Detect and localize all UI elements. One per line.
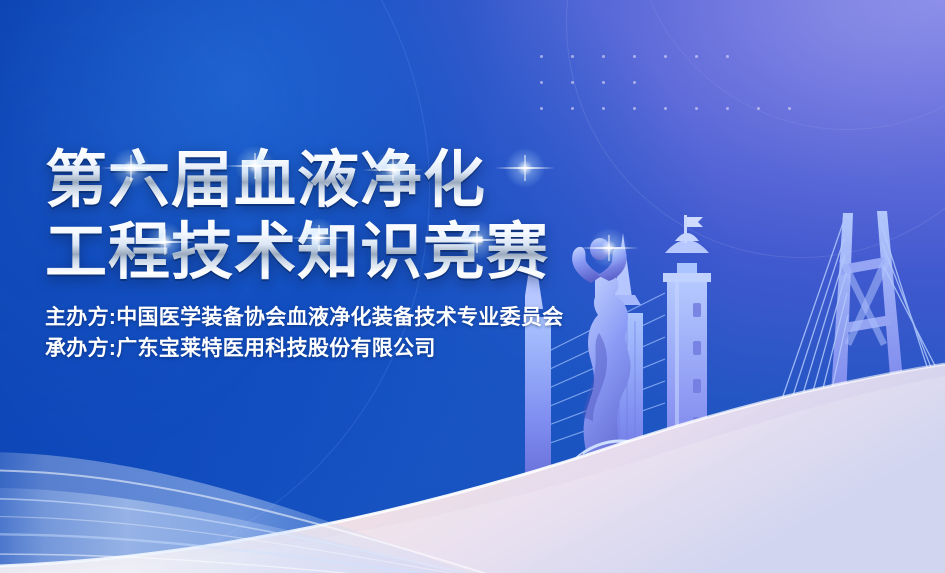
- page-title-line-2: 工程技术知识竞赛: [45, 218, 705, 288]
- matrix-dot: [602, 107, 605, 110]
- page-title-line-1: 第六届血液净化: [45, 146, 705, 216]
- matrix-dot: [726, 107, 729, 110]
- matrix-dot: [571, 81, 574, 84]
- banner-text-block: 第六届血液净化 工程技术知识竞赛 主办方:中国医学装备协会血液净化装备技术专业委…: [45, 146, 705, 364]
- matrix-dot: [695, 107, 698, 110]
- matrix-dot: [571, 55, 574, 58]
- co-organizer-line: 承办方:广东宝莱特医用科技股份有限公司: [45, 333, 705, 364]
- matrix-dot: [757, 107, 760, 110]
- matrix-dot: [664, 107, 667, 110]
- matrix-dot: [633, 55, 636, 58]
- matrix-dot: [540, 55, 543, 58]
- event-banner: 第六届血液净化 工程技术知识竞赛 主办方:中国医学装备协会血液净化装备技术专业委…: [0, 0, 945, 573]
- organizer-line: 主办方:中国医学装备协会血液净化装备技术专业委员会: [45, 302, 705, 333]
- matrix-dot: [602, 81, 605, 84]
- matrix-dot: [664, 55, 667, 58]
- matrix-dot: [571, 107, 574, 110]
- matrix-dot: [540, 81, 543, 84]
- matrix-dot: [726, 55, 729, 58]
- matrix-dot: [602, 55, 605, 58]
- matrix-dot: [633, 107, 636, 110]
- matrix-dot: [540, 107, 543, 110]
- matrix-dot: [788, 107, 791, 110]
- dot-matrix-pattern: [540, 55, 810, 145]
- matrix-dot: [695, 55, 698, 58]
- matrix-dot: [633, 81, 636, 84]
